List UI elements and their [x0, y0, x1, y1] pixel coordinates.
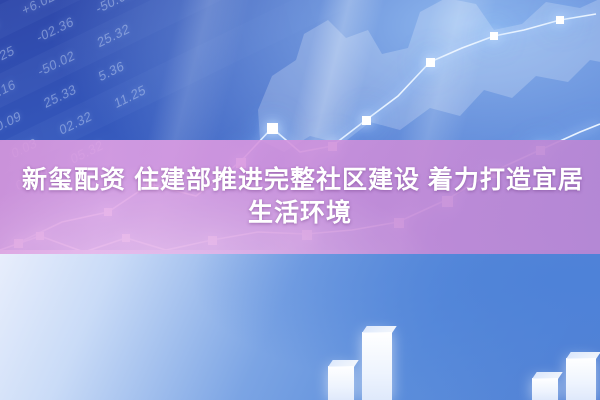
bar-4: [566, 358, 596, 400]
bar-2: [362, 332, 392, 400]
bar-cap: [566, 352, 600, 359]
bar-cap: [328, 360, 359, 367]
bar-1: [328, 366, 354, 400]
lower-blue-panel: [0, 250, 600, 400]
promo-banner: -0.03+45.0221.36-02.36-08.3545.02-2.35+5…: [0, 0, 600, 400]
bar-cap: [532, 372, 563, 379]
bar-cap: [362, 326, 397, 333]
headline-line-2: 生活环境: [248, 198, 352, 229]
headline-group: 新玺配资 住建部推进完整社区建设 着力打造宜居 生活环境: [0, 140, 600, 254]
bar-3: [532, 378, 558, 400]
headline-line-1: 新玺配资 住建部推进完整社区建设 着力打造宜居: [22, 165, 584, 196]
